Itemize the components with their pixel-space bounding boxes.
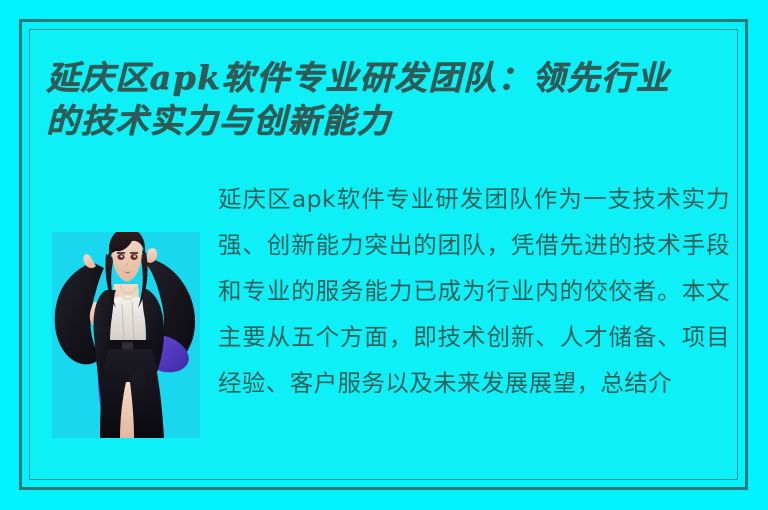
article-body-text: 延庆区apk软件专业研发团队作为一支技术实力强、创新能力突出的团队，凭借先进的技… [218,176,730,406]
page-title: 延庆区apk软件专业研发团队：领先行业 的技术实力与创新能力 [46,56,736,142]
page-root: 延庆区apk软件专业研发团队：领先行业 的技术实力与创新能力 [0,0,768,510]
article-content: 延庆区apk软件专业研发团队作为一支技术实力强、创新能力突出的团队，凭借先进的技… [40,176,730,476]
page-title-line-1: 延庆区apk软件专业研发团队：领先行业 [46,56,736,99]
anime-woman-illustration [52,232,200,438]
page-title-line-2: 的技术实力与创新能力 [46,99,736,142]
illustration-svg [52,232,200,438]
